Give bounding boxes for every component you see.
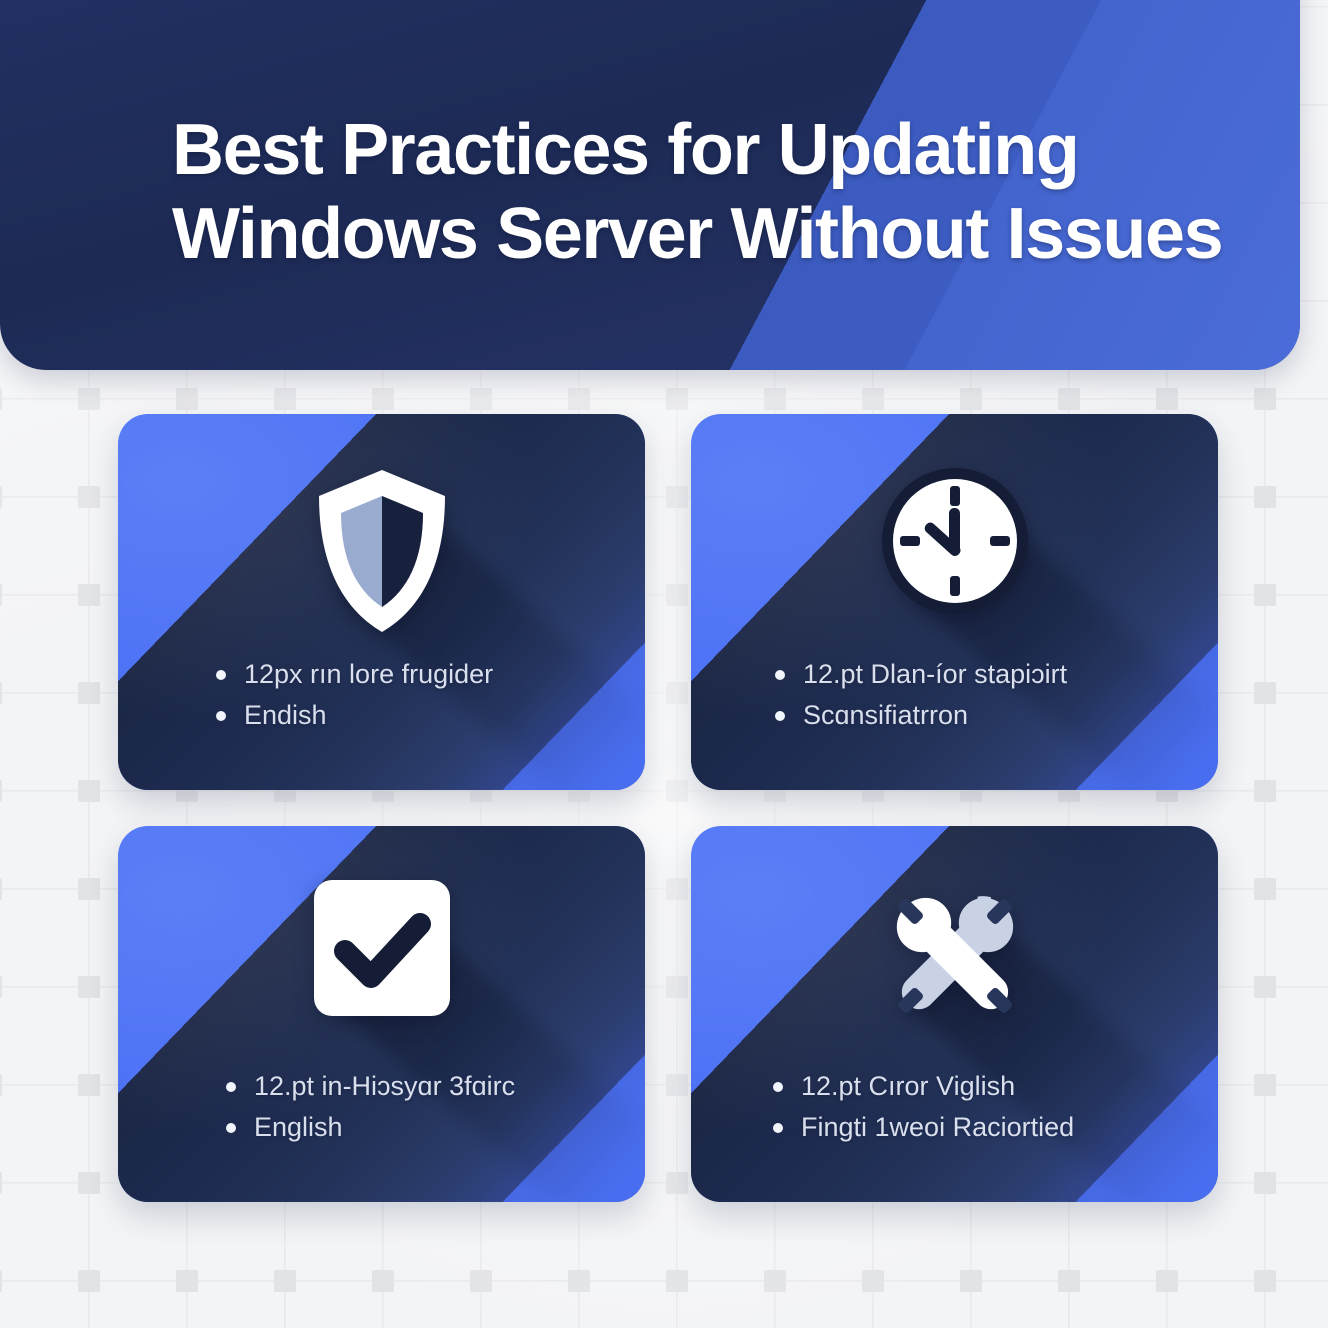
header-banner: Best Practices for Updating Windows Serv… [0, 0, 1300, 370]
card-bullet-list: 12.pt in-Hiɔsyɑr 3fɑirc English [224, 1066, 515, 1148]
shield-icon [118, 466, 645, 636]
card-clock[interactable]: 12.pt Dlan-íor stapiɔirt Scɑnsifiatrron [691, 414, 1218, 790]
list-item: English [224, 1107, 515, 1148]
card-grid: 12px rın lore frugider Endish [118, 414, 1218, 1202]
infographic-page: Best Practices for Updating Windows Serv… [0, 0, 1328, 1328]
list-item: Scɑnsifiatrron [773, 695, 1067, 736]
list-item: Fingti 1weoi Raciortied [771, 1107, 1074, 1148]
card-checkbox[interactable]: 12.pt in-Hiɔsyɑr 3fɑirc English [118, 826, 645, 1202]
card-shield[interactable]: 12px rın lore frugider Endish [118, 414, 645, 790]
list-item: Endish [214, 695, 493, 736]
list-item: 12.pt in-Hiɔsyɑr 3fɑirc [224, 1066, 515, 1107]
wrench-tools-icon [691, 878, 1218, 1034]
checkbox-check-icon [118, 878, 645, 1018]
list-item: 12.pt Cıror Viglish [771, 1066, 1074, 1107]
list-item: 12px rın lore frugider [214, 654, 493, 695]
clock-icon [691, 466, 1218, 616]
card-bullet-list: 12px rın lore frugider Endish [214, 654, 493, 736]
page-title: Best Practices for Updating Windows Serv… [172, 108, 1262, 276]
list-item: 12.pt Dlan-íor stapiɔirt [773, 654, 1067, 695]
card-tools[interactable]: 12.pt Cıror Viglish Fingti 1weoi Raciort… [691, 826, 1218, 1202]
card-bullet-list: 12.pt Dlan-íor stapiɔirt Scɑnsifiatrron [773, 654, 1067, 736]
card-bullet-list: 12.pt Cıror Viglish Fingti 1weoi Raciort… [771, 1066, 1074, 1148]
